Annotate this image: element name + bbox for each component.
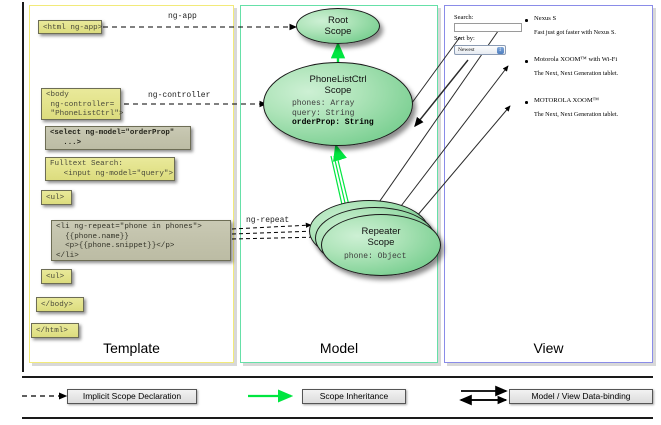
legend-model-view-data-binding[interactable]: Model / View Data-binding [509, 389, 653, 404]
legend-double-arrow [461, 391, 506, 400]
legend-implicit-scope-declaration[interactable]: Implicit Scope Declaration [67, 389, 197, 404]
legend-scope-inheritance[interactable]: Scope Inheritance [302, 389, 406, 404]
diagram-root: Template Model View [0, 0, 661, 425]
legend-connector-layer [0, 0, 661, 425]
